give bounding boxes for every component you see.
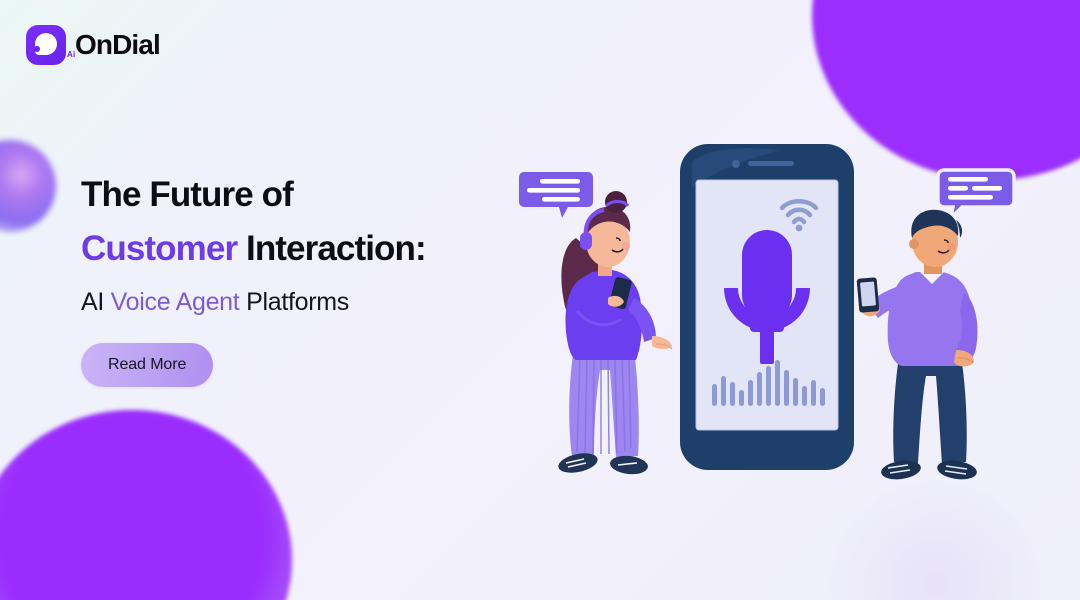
woman-with-headphones-and-phone xyxy=(538,180,678,480)
decorative-blob-soft-right xyxy=(830,480,1040,600)
smartphone-mockup xyxy=(672,138,862,478)
logo-bubble-dot xyxy=(34,46,40,52)
man-holding-phone xyxy=(852,200,1012,490)
subhead-pre: AI xyxy=(81,288,111,316)
headline-line2-text: Interaction: xyxy=(237,229,426,268)
logo-ai-badge: Ai xyxy=(67,50,75,59)
hero-banner: Ai OnDial The Future of Customer Interac… xyxy=(0,0,1080,600)
headline-line1-text: The Future of xyxy=(81,175,293,214)
decorative-blob-bottom-left xyxy=(0,410,292,600)
headline-line-2: Customer Interaction: xyxy=(81,222,426,276)
headline-line-1: The Future of xyxy=(81,168,426,222)
read-more-button[interactable]: Read More xyxy=(81,343,213,387)
headline-accent-word: Customer xyxy=(81,229,237,268)
page-subtitle: AI Voice Agent Platforms xyxy=(81,288,426,317)
decorative-blob-left xyxy=(0,140,56,232)
subhead-post: Platforms xyxy=(239,288,349,316)
brand-logo[interactable]: Ai OnDial xyxy=(26,25,160,65)
brand-name: OnDial xyxy=(75,29,160,61)
subhead-accent-words: Voice Agent xyxy=(111,288,240,316)
hero-illustration xyxy=(500,120,1060,490)
speech-bubble-logo-icon: Ai xyxy=(26,25,66,65)
page-title: The Future of Customer Interaction: xyxy=(81,168,426,276)
hero-copy: The Future of Customer Interaction: AI V… xyxy=(81,168,426,387)
